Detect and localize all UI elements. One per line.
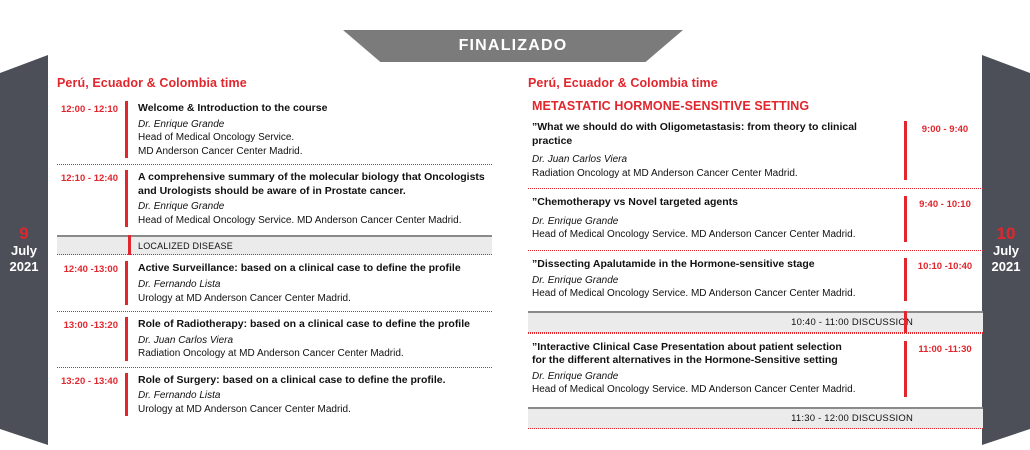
agenda-row-affiliation: Urology at MD Anderson Cancer Center Mad… bbox=[138, 403, 492, 417]
agenda-row: 13:00 -13:20 Role of Radiotherapy: based… bbox=[57, 311, 492, 367]
discussion-band-1: 10:40 - 11:00 DISCUSSION bbox=[528, 311, 983, 333]
agenda-row-speaker: Dr. Juan Carlos Viera bbox=[532, 153, 896, 167]
agenda-row: ”Dissecting Apalutamide in the Hormone-s… bbox=[528, 250, 983, 309]
day-tab-right-month: July bbox=[993, 243, 1019, 259]
agenda-row-time: 12:40 -13:00 bbox=[57, 261, 125, 275]
agenda-row: 13:20 - 13:40 Role of Surgery: based on … bbox=[57, 367, 492, 423]
discussion-band-label: 11:30 - 12:00 DISCUSSION bbox=[791, 413, 913, 424]
row-accent-bar bbox=[125, 317, 128, 361]
agenda-row-time: 13:00 -13:20 bbox=[57, 317, 125, 331]
agenda-row-title: Welcome & Introduction to the course bbox=[138, 102, 492, 116]
day-tab-right: 10 July 2021 bbox=[982, 55, 1030, 445]
row-accent-bar bbox=[125, 373, 128, 417]
agenda-column-day10: Perú, Ecuador & Colombia time METASTATIC… bbox=[528, 76, 983, 429]
agenda-row-title: ”Interactive Clinical Case Presentation … bbox=[532, 341, 896, 355]
band-accent-bar bbox=[128, 235, 131, 255]
agenda-row-title: ”What we should do with Oligometastasis:… bbox=[532, 121, 896, 148]
row-accent-bar bbox=[125, 101, 128, 158]
status-banner: FINALIZADO bbox=[343, 30, 683, 62]
agenda-row-affiliation: Radiation Oncology at MD Anderson Cancer… bbox=[138, 347, 492, 361]
agenda-row-affiliation: Head of Medical Oncology Service. bbox=[138, 131, 492, 145]
agenda-column-day9: Perú, Ecuador & Colombia time 12:00 - 12… bbox=[57, 76, 492, 422]
agenda-page: FINALIZADO 9 July 2021 10 July 2021 Perú… bbox=[0, 0, 1030, 450]
agenda-row-affiliation: Radiation Oncology at MD Anderson Cancer… bbox=[532, 167, 896, 181]
agenda-row-speaker: Dr. Fernando Lista bbox=[138, 389, 492, 403]
agenda-row: 12:10 - 12:40 A comprehensive summary of… bbox=[57, 164, 492, 233]
agenda-row-time: 11:00 -11:30 bbox=[907, 341, 983, 355]
agenda-row-affiliation: Head of Medical Oncology Service. MD And… bbox=[532, 383, 896, 397]
agenda-row-affiliation: Head of Medical Oncology Service. MD And… bbox=[532, 228, 896, 242]
day-tab-right-day: 10 bbox=[997, 225, 1016, 244]
agenda-row-title-2: for the different alternatives in the Ho… bbox=[532, 354, 896, 368]
agenda-row-speaker: Dr. Juan Carlos Viera bbox=[138, 334, 492, 348]
section-band-localized-disease: LOCALIZED DISEASE bbox=[57, 235, 492, 255]
agenda-row-title: ”Chemotherapy vs Novel targeted agents bbox=[532, 196, 896, 210]
day-tab-left-month: July bbox=[11, 243, 37, 259]
agenda-row-title: Role of Radiotherapy: based on a clinica… bbox=[138, 318, 492, 332]
agenda-row-time: 9:40 - 10:10 bbox=[907, 196, 983, 210]
agenda-row: 12:40 -13:00 Active Surveillance: based … bbox=[57, 255, 492, 311]
left-timezone-heading: Perú, Ecuador & Colombia time bbox=[57, 76, 492, 90]
agenda-row-time: 9:00 - 9:40 bbox=[907, 121, 983, 135]
day-tab-right-year: 2021 bbox=[992, 259, 1021, 275]
agenda-row-speaker: Dr. Enrique Grande bbox=[532, 215, 896, 229]
agenda-row-title: Role of Surgery: based on a clinical cas… bbox=[138, 374, 492, 388]
day-tab-left-year: 2021 bbox=[10, 259, 39, 275]
row-accent-bar bbox=[125, 170, 128, 227]
agenda-row-speaker: Dr. Fernando Lista bbox=[138, 278, 492, 292]
right-timezone-heading: Perú, Ecuador & Colombia time bbox=[528, 76, 983, 90]
discussion-band-label: 10:40 - 11:00 DISCUSSION bbox=[791, 317, 913, 328]
agenda-row-time: 13:20 - 13:40 bbox=[57, 373, 125, 387]
agenda-row-speaker: Dr. Enrique Grande bbox=[138, 200, 492, 214]
agenda-row-speaker: Dr. Enrique Grande bbox=[532, 370, 896, 384]
discussion-band-2: 11:30 - 12:00 DISCUSSION bbox=[528, 407, 983, 429]
agenda-row-affiliation-2: MD Anderson Cancer Center Madrid. bbox=[138, 145, 492, 159]
agenda-row-time: 12:00 - 12:10 bbox=[57, 101, 125, 115]
section-band-label: LOCALIZED DISEASE bbox=[138, 241, 233, 251]
agenda-row-affiliation: Urology at MD Anderson Cancer Center Mad… bbox=[138, 292, 492, 306]
agenda-row-affiliation: Head of Medical Oncology Service. MD And… bbox=[138, 214, 492, 228]
row-accent-bar bbox=[125, 261, 128, 305]
day-tab-left: 9 July 2021 bbox=[0, 55, 48, 445]
status-banner-label: FINALIZADO bbox=[459, 37, 568, 55]
agenda-row: ”What we should do with Oligometastasis:… bbox=[528, 119, 983, 188]
agenda-row-affiliation: Head of Medical Oncology Service. MD And… bbox=[532, 287, 896, 301]
agenda-row: ”Interactive Clinical Case Presentation … bbox=[528, 333, 983, 405]
day-tab-left-day: 9 bbox=[19, 225, 28, 244]
band-accent-bar bbox=[904, 311, 907, 333]
agenda-row-title: Active Surveillance: based on a clinical… bbox=[138, 262, 492, 276]
agenda-row-title: ”Dissecting Apalutamide in the Hormone-s… bbox=[532, 258, 896, 272]
agenda-row-title: A comprehensive summary of the molecular… bbox=[138, 171, 492, 198]
agenda-row-time: 12:10 - 12:40 bbox=[57, 170, 125, 184]
right-section-title: METASTATIC HORMONE-SENSITIVE SETTING bbox=[532, 99, 983, 113]
agenda-row-speaker: Dr. Enrique Grande bbox=[532, 274, 896, 288]
agenda-row: ”Chemotherapy vs Novel targeted agents D… bbox=[528, 188, 983, 250]
agenda-row-speaker: Dr. Enrique Grande bbox=[138, 118, 492, 132]
agenda-row-time: 10:10 -10:40 bbox=[907, 258, 983, 272]
agenda-row: 12:00 - 12:10 Welcome & Introduction to … bbox=[57, 99, 492, 164]
